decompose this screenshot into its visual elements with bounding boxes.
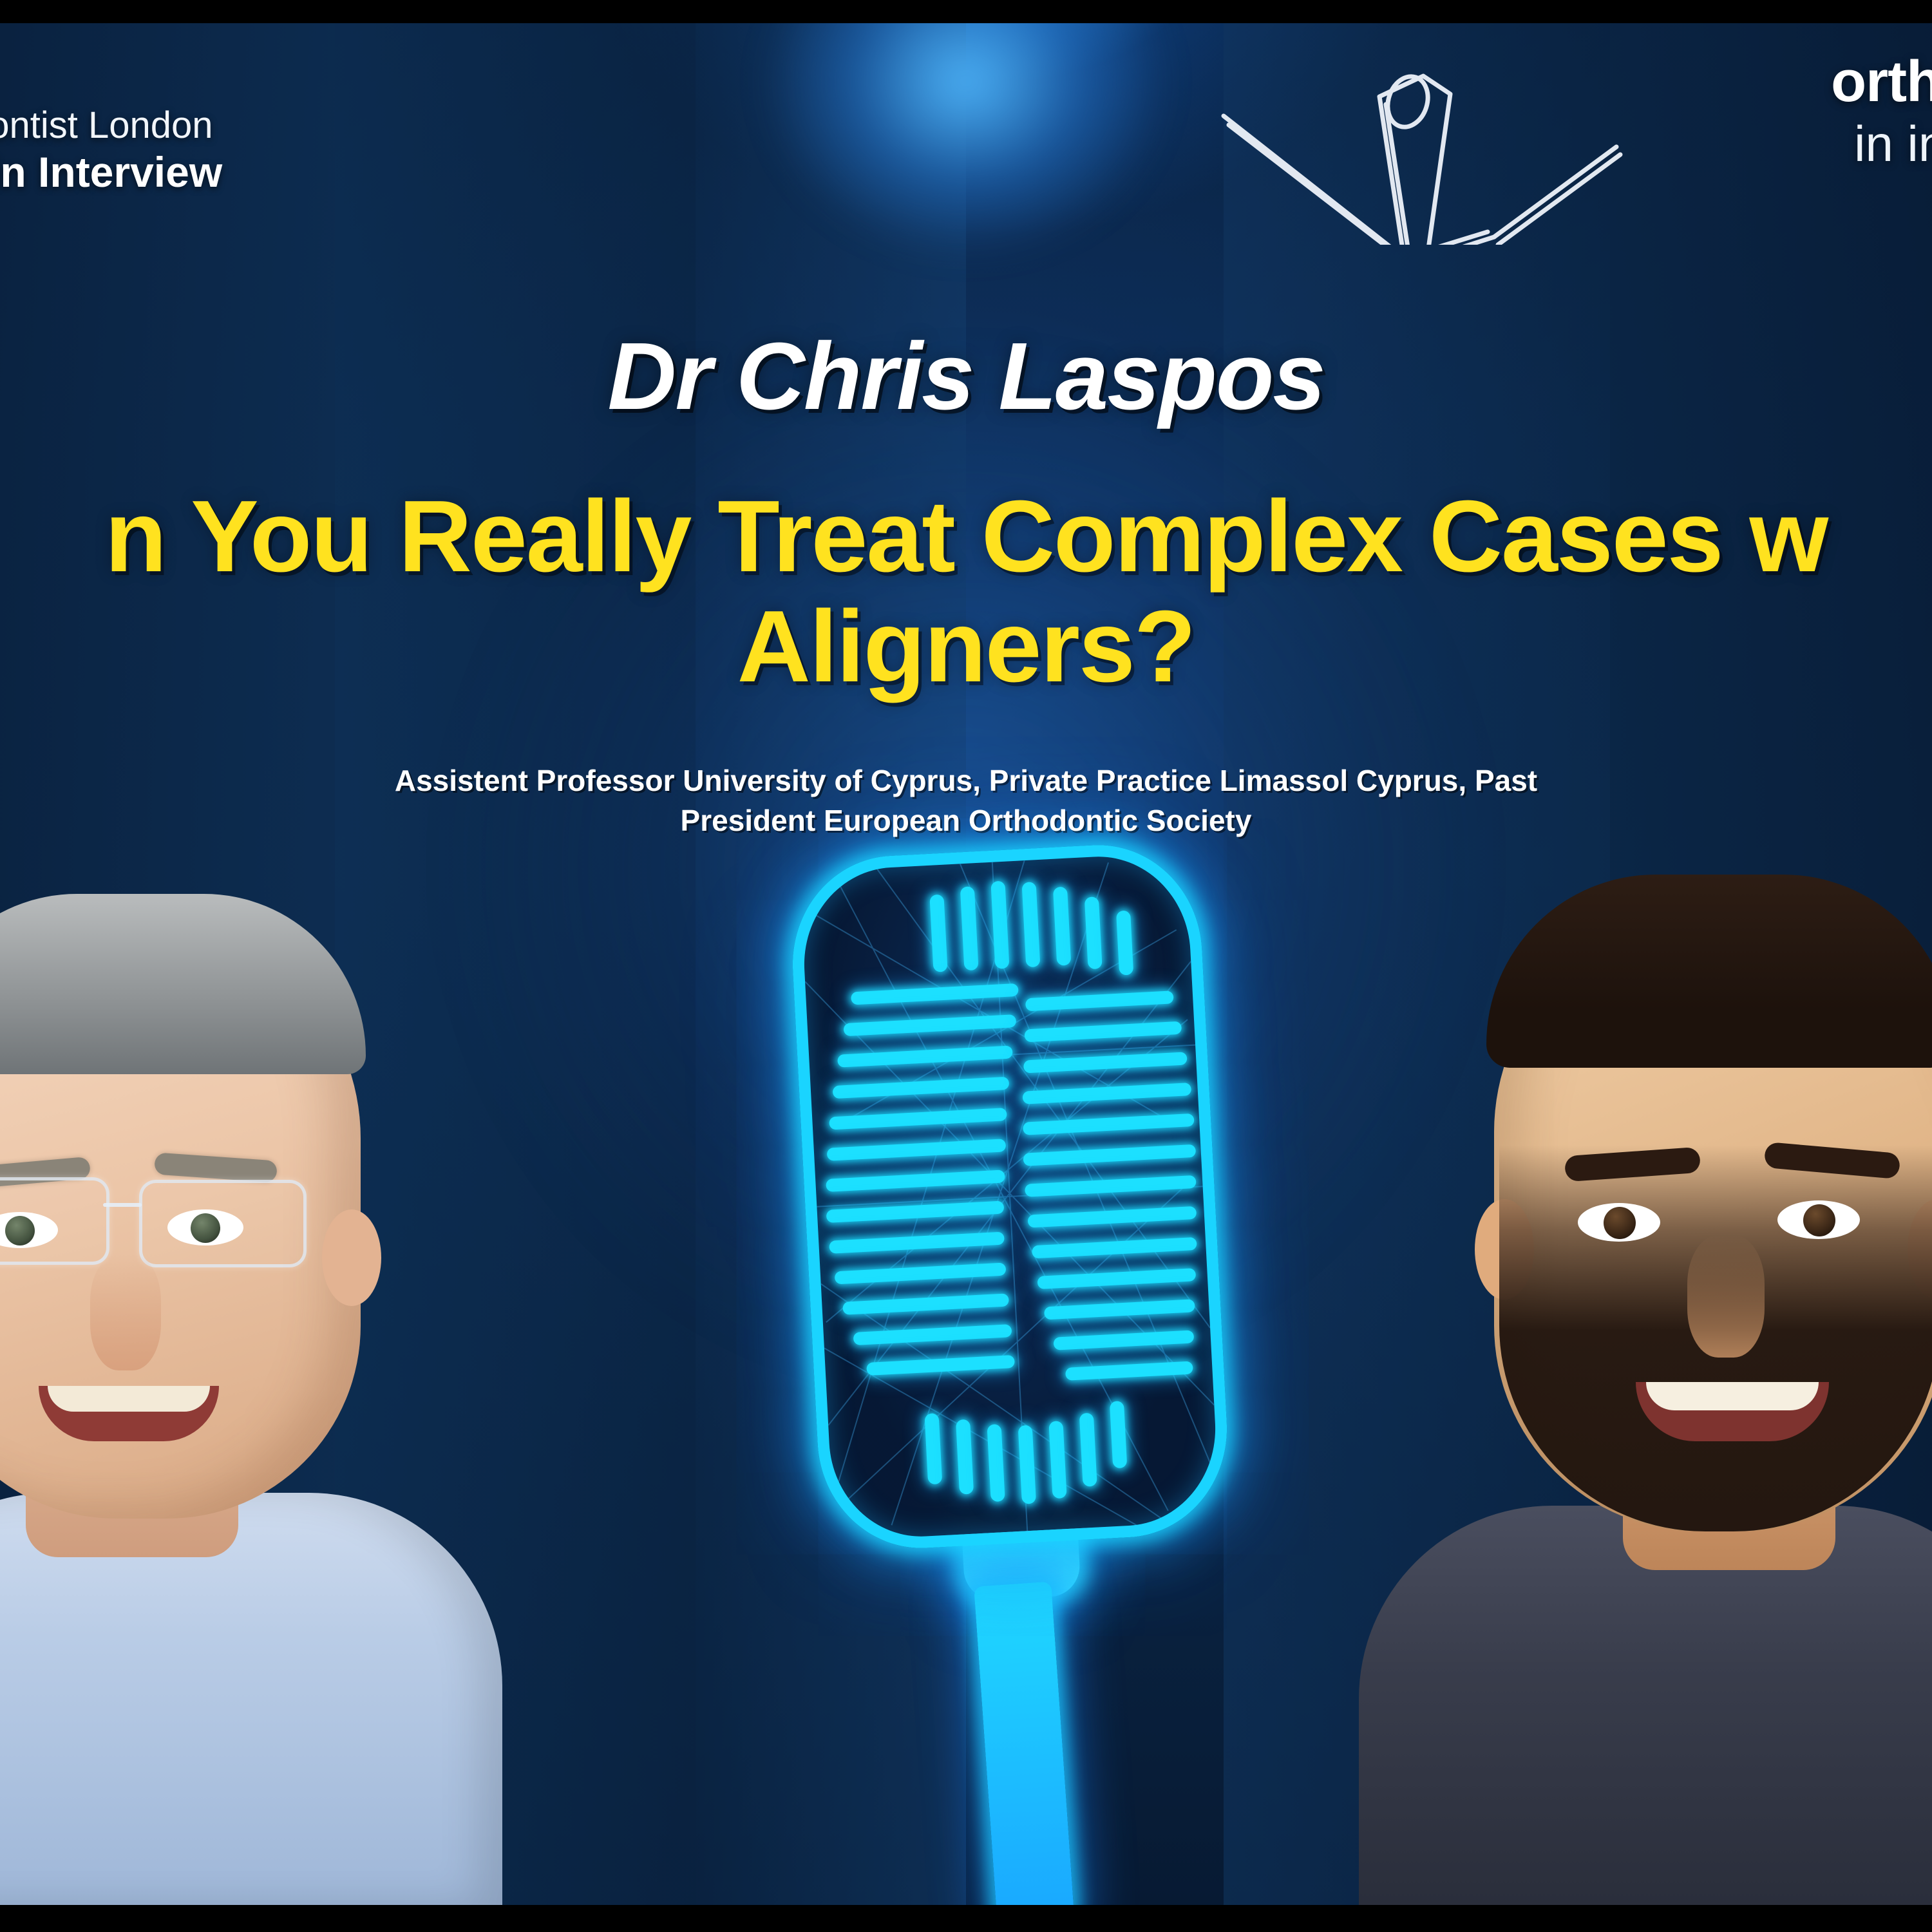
headline-line-2: Aligners? (0, 592, 1932, 702)
person-right-eye (1578, 1203, 1660, 1242)
speaker-name: Dr Chris Laspos (0, 322, 1932, 431)
letterbox-top (0, 0, 1932, 23)
letterbox-bottom (0, 1905, 1932, 1932)
mic-head (787, 840, 1232, 1553)
neon-microphone-icon (747, 850, 1249, 1906)
person-right-hair (1486, 875, 1932, 1068)
channel-title-block: ned rthodontist London tics in Interview (0, 57, 222, 195)
brand-line-2: in intervi (1854, 116, 1932, 172)
person-right-mouth (1636, 1382, 1829, 1441)
channel-line-1: ned (0, 57, 222, 97)
person-left-photo (0, 810, 528, 1905)
channel-line-3: tics in Interview (0, 149, 222, 196)
brand-block: orthodon in intervi (1831, 53, 1932, 172)
mic-stem (974, 1582, 1074, 1921)
brand-line-1: orthodon (1831, 53, 1932, 111)
mic-grille (799, 852, 1220, 1541)
person-left-mouth (39, 1386, 219, 1441)
headline-line-1: n You Really Treat Complex Cases w (0, 482, 1932, 592)
person-left-hair (0, 894, 366, 1074)
thumbnail-canvas: ned rthodontist London tics in Interview… (0, 0, 1932, 1932)
credential-line-1: Assistent Professor University of Cyprus… (270, 761, 1662, 801)
person-left-nose (90, 1255, 161, 1370)
person-right-eye (1777, 1200, 1860, 1239)
person-right-photo (1352, 810, 1932, 1905)
person-left-ear (322, 1209, 381, 1306)
channel-line-2: rthodontist London (0, 104, 222, 147)
person-right-nose (1687, 1235, 1765, 1358)
headline: n You Really Treat Complex Cases w Align… (0, 482, 1932, 701)
person-left-glasses-icon (0, 1177, 303, 1274)
orthodontic-bracket-wire-logo-icon (1211, 71, 1623, 245)
